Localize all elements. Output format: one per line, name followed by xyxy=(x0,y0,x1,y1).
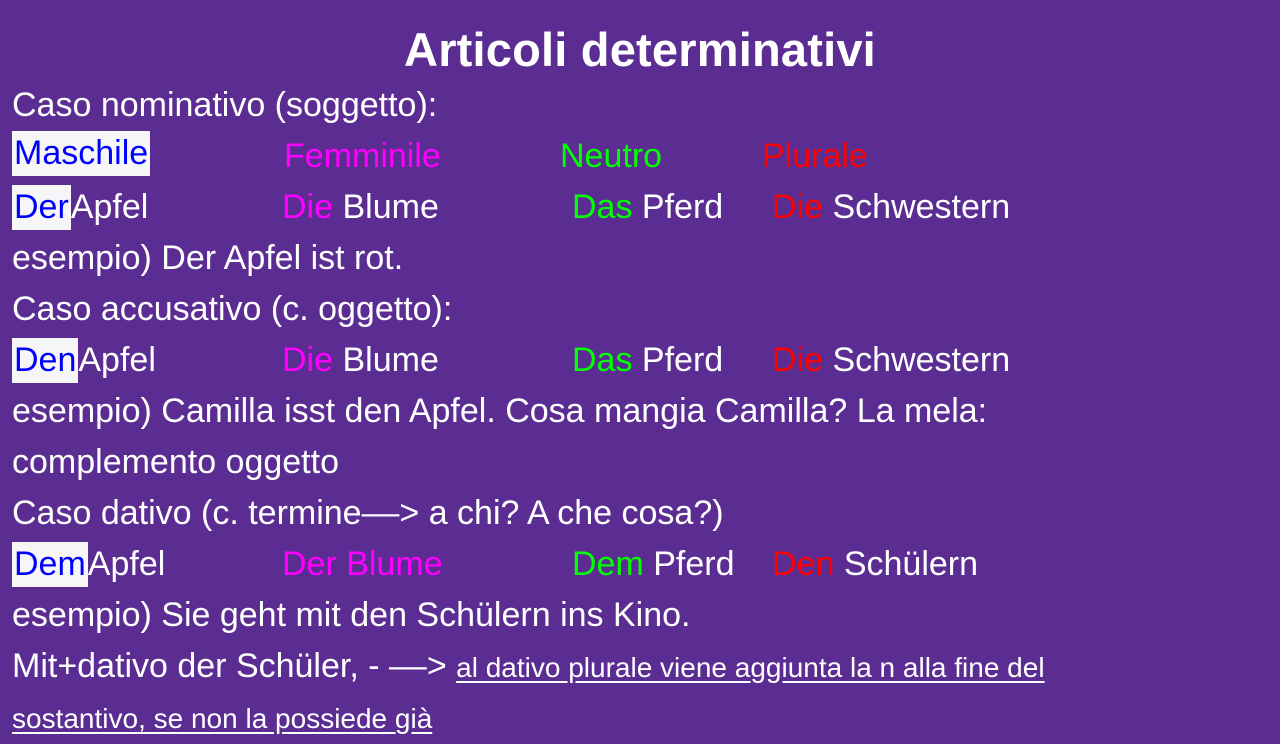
nominative-femminile-noun: Blume xyxy=(342,188,438,226)
dative-femminile-phrase: Der Blume xyxy=(282,539,443,590)
accusative-example-line1: esempio) Camilla isst den Apfel. Cosa ma… xyxy=(12,386,1268,437)
header-neutro: Neutro xyxy=(560,131,662,182)
slide-canvas: Articoli determinativi Caso nominativo (… xyxy=(0,0,1280,720)
dative-plurale-article: Den xyxy=(772,545,834,583)
dative-heading: Caso dativo (c. termine––> a chi? A che … xyxy=(12,488,1268,539)
dative-plurale-cell: Den Schülern xyxy=(772,539,978,590)
dative-neutro-article: Dem xyxy=(572,545,644,583)
nominative-femminile-article: Die xyxy=(282,188,333,226)
header-maschile: Maschile xyxy=(12,131,150,176)
accusative-neutro-cell: Das Pferd xyxy=(572,335,723,386)
accusative-femminile-noun: Blume xyxy=(342,341,438,379)
accusative-articles-row: DenApfel Die Blume Das Pferd Die Schwest… xyxy=(12,335,1268,386)
accusative-plurale-article: Die xyxy=(772,341,823,379)
accusative-neutro-article: Das xyxy=(572,341,632,379)
nominative-plurale-cell: Die Schwestern xyxy=(772,182,1010,233)
note-underlined-line1: al dativo plurale viene aggiunta la n al… xyxy=(456,652,1044,683)
dative-articles-row: DemApfel Der Blume Dem Pferd Den Schüler… xyxy=(12,539,1268,590)
dative-plurale-noun: Schülern xyxy=(844,545,978,583)
note-lead: Mit+dativo der Schüler, - ––> xyxy=(12,647,447,685)
nominative-maschile-article: Der xyxy=(12,185,71,230)
dative-maschile-article: Dem xyxy=(12,542,88,587)
nominative-plurale-noun: Schwestern xyxy=(832,188,1010,226)
accusative-plurale-cell: Die Schwestern xyxy=(772,335,1010,386)
accusative-femminile-article: Die xyxy=(282,341,333,379)
header-plurale: Plurale xyxy=(762,131,868,182)
note-line1: Mit+dativo der Schüler, - ––> al dativo … xyxy=(12,641,1268,692)
note-underlined-line2: sostantivo, se non la possiede già xyxy=(12,703,432,734)
nominative-femminile-cell: Die Blume xyxy=(282,182,439,233)
dative-maschile-noun: Apfel xyxy=(88,545,166,583)
nominative-example: esempio) Der Apfel ist rot. xyxy=(12,233,1268,284)
slide-body: Caso nominativo (soggetto): Maschile Fem… xyxy=(12,80,1268,743)
nominative-neutro-article: Das xyxy=(572,188,632,226)
accusative-maschile-noun: Apfel xyxy=(78,341,156,379)
accusative-heading: Caso accusativo (c. oggetto): xyxy=(12,284,1268,335)
header-femminile: Femminile xyxy=(284,131,441,182)
accusative-maschile-cell: DenApfel xyxy=(12,335,156,386)
nominative-articles-row: DerApfel Die Blume Das Pferd Die Schwest… xyxy=(12,182,1268,233)
accusative-example-line2: complemento oggetto xyxy=(12,437,1268,488)
accusative-plurale-noun: Schwestern xyxy=(832,341,1010,379)
dative-neutro-noun: Pferd xyxy=(653,545,734,583)
nominative-neutro-cell: Das Pferd xyxy=(572,182,723,233)
nominative-neutro-noun: Pferd xyxy=(642,188,723,226)
accusative-femminile-cell: Die Blume xyxy=(282,335,439,386)
nominative-plurale-article: Die xyxy=(772,188,823,226)
gender-header-row: Maschile Femminile Neutro Plurale xyxy=(12,131,1268,182)
dative-maschile-cell: DemApfel xyxy=(12,539,165,590)
nominative-maschile-cell: DerApfel xyxy=(12,182,148,233)
accusative-neutro-noun: Pferd xyxy=(642,341,723,379)
accusative-maschile-article: Den xyxy=(12,338,78,383)
dative-example: esempio) Sie geht mit den Schülern ins K… xyxy=(12,590,1268,641)
page-title: Articoli determinativi xyxy=(0,22,1280,78)
nominative-heading: Caso nominativo (soggetto): xyxy=(12,80,1268,131)
dative-neutro-cell: Dem Pferd xyxy=(572,539,735,590)
note-line2: sostantivo, se non la possiede già xyxy=(12,692,1268,743)
nominative-maschile-noun: Apfel xyxy=(71,188,149,226)
